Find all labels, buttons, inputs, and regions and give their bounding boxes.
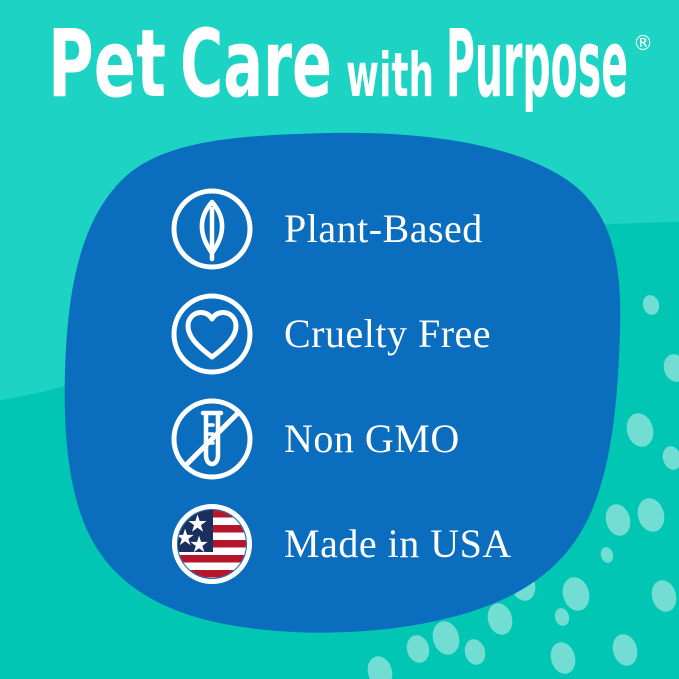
- title-word-pet: Pet: [48, 20, 166, 112]
- flag-canton: [176, 508, 213, 552]
- badge-row-non-gmo: Non GMO: [168, 386, 598, 491]
- badge-row-cruelty-free: Cruelty Free: [168, 281, 598, 386]
- badge-label-non-gmo: Non GMO: [284, 419, 460, 459]
- trademark-symbol: ®: [633, 31, 653, 55]
- leaf-in-circle-icon: [168, 185, 256, 273]
- title-word-with: with: [346, 40, 434, 111]
- pet-care-infographic: Pet Care with Purpose ® Plant-Based Crue…: [0, 0, 679, 679]
- usa-flag-circle-icon: [168, 500, 256, 588]
- badge-row-made-in-usa: Made in USA: [168, 491, 598, 596]
- certification-badge-list: Plant-Based Cruelty Free Non GMO: [168, 176, 598, 596]
- badge-label-made-in-usa: Made in USA: [284, 524, 512, 564]
- badge-row-plant-based: Plant-Based: [168, 176, 598, 281]
- badge-label-cruelty-free: Cruelty Free: [284, 314, 491, 354]
- heart-in-circle-icon: [168, 290, 256, 378]
- title-word-purpose: Purpose: [446, 20, 628, 112]
- prohibition-slash: [186, 413, 238, 465]
- page-title: Pet Care with Purpose ®: [0, 18, 679, 114]
- no-test-tube-icon: [168, 395, 256, 483]
- badge-label-plant-based: Plant-Based: [284, 209, 483, 249]
- title-word-care: Care: [180, 20, 332, 112]
